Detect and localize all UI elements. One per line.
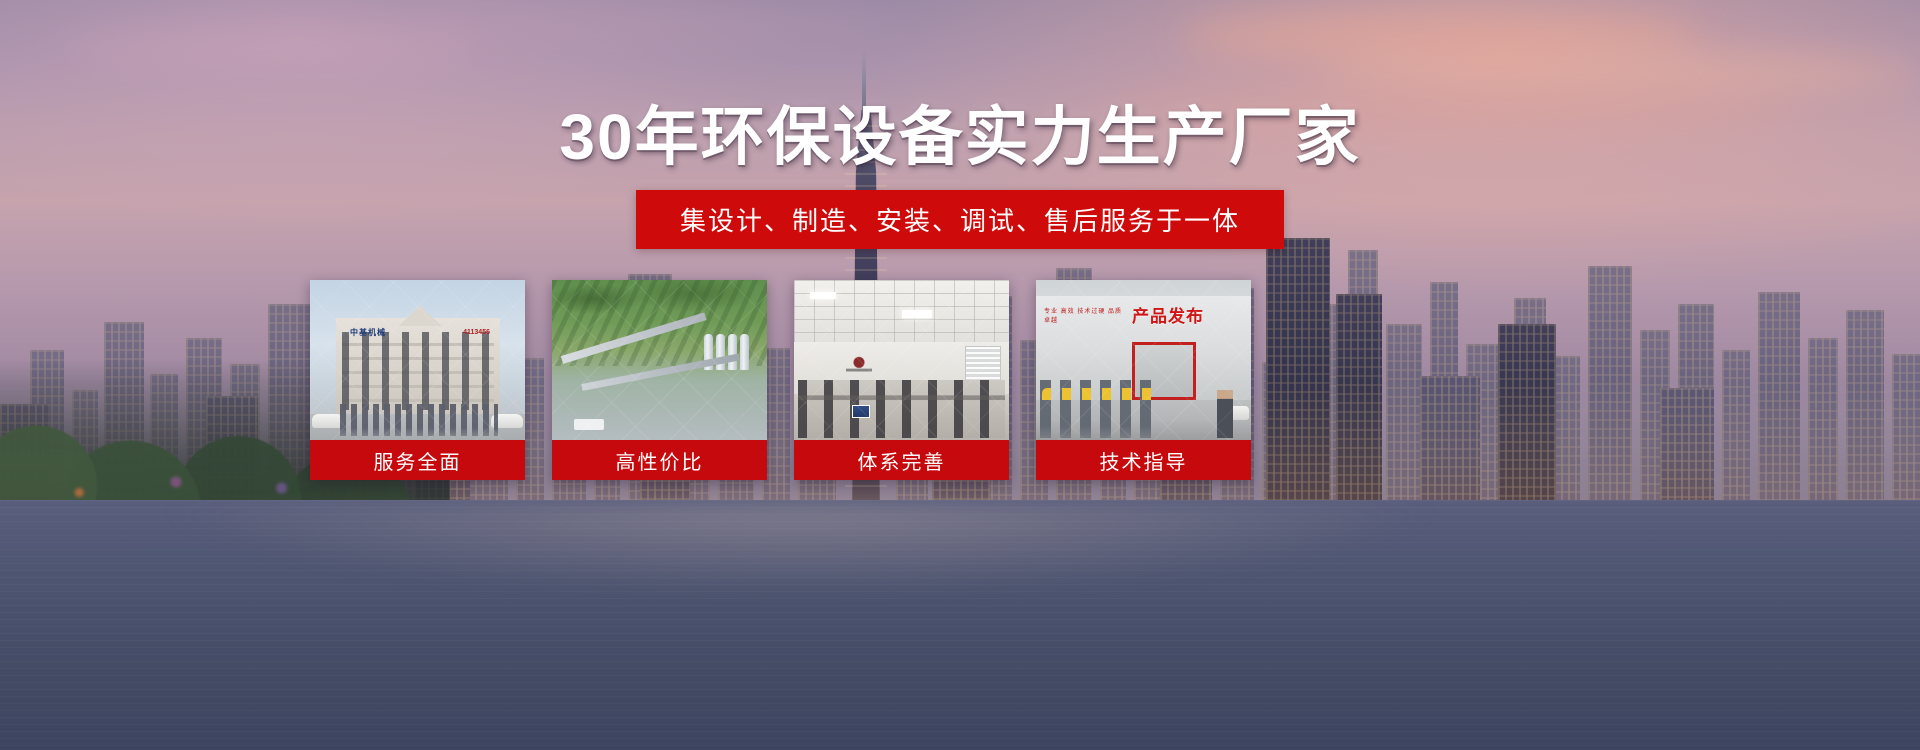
building-sign: 中基机械 4113456 xyxy=(350,326,490,338)
card-caption: 体系完善 xyxy=(794,440,1009,480)
feature-card[interactable]: 中基机械 4113456 服务全面 xyxy=(310,280,525,480)
subtitle-badge: 集设计、制造、安装、调试、售后服务于一体 xyxy=(636,190,1284,249)
feature-card[interactable]: 体系完善 xyxy=(794,280,1009,480)
subtitle-container: 集设计、制造、安装、调试、售后服务于一体 xyxy=(0,190,1920,249)
building-sign-tel: 4113456 xyxy=(463,329,490,336)
factory-banner-text: 产品发布 xyxy=(1132,302,1204,327)
card-caption: 技术指导 xyxy=(1036,440,1251,480)
card-photo-aerial-plant xyxy=(552,280,767,440)
card-photo-factory-workers: 专业 高效 技术过硬 品质卓越 产品发布 xyxy=(1036,280,1251,440)
feature-card-list: 中基机械 4113456 服务全面 高性价比 xyxy=(310,280,1251,480)
card-caption: 高性价比 xyxy=(552,440,767,480)
card-photo-office-interior xyxy=(794,280,1009,440)
building-sign-name: 中基机械 xyxy=(350,327,386,338)
feature-card[interactable]: 专业 高效 技术过硬 品质卓越 产品发布 技术指导 xyxy=(1036,280,1251,480)
water-reflection xyxy=(150,505,1450,595)
page-title: 30年环保设备实力生产厂家 xyxy=(0,104,1920,171)
factory-slogan: 专业 高效 技术过硬 品质卓越 xyxy=(1044,308,1128,338)
card-caption: 服务全面 xyxy=(310,440,525,480)
hero-banner: 30年环保设备实力生产厂家 集设计、制造、安装、调试、售后服务于一体 中基机械 … xyxy=(0,0,1920,750)
card-photo-office-building: 中基机械 4113456 xyxy=(310,280,525,440)
feature-card[interactable]: 高性价比 xyxy=(552,280,767,480)
